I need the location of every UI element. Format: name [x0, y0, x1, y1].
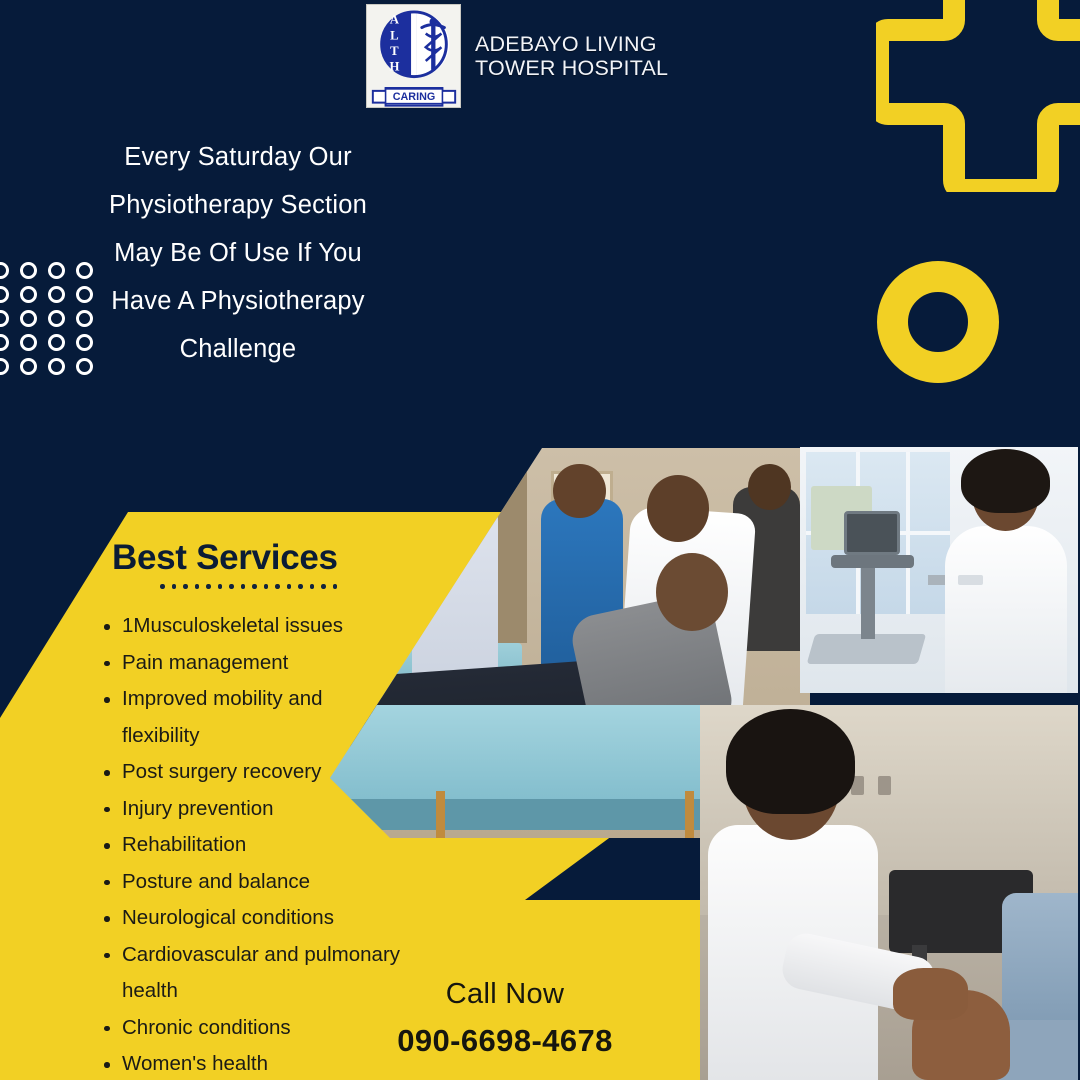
headline-line: Every Saturday Our	[60, 133, 416, 181]
service-item: Improved mobility and flexibility	[104, 681, 404, 754]
header: A L T H CARING ADEBAYO LIVING TOWER HOSP…	[366, 4, 668, 108]
dotted-divider	[160, 584, 337, 589]
hospital-logo: A L T H CARING	[366, 4, 461, 108]
dot-ring	[20, 286, 37, 303]
phone-number[interactable]: 090-6698-4678	[360, 1023, 650, 1059]
svg-text:L: L	[390, 28, 398, 42]
dot-ring	[20, 262, 37, 279]
headline: Every Saturday Our Physiotherapy Section…	[60, 133, 416, 373]
service-item: Neurological conditions	[104, 900, 404, 937]
headline-line: Challenge	[60, 325, 416, 373]
svg-text:A: A	[389, 13, 399, 27]
caring-banner-icon: CARING	[369, 85, 459, 107]
dot-ring	[0, 262, 9, 279]
hospital-name: ADEBAYO LIVING TOWER HOSPITAL	[475, 32, 668, 81]
service-item: Injury prevention	[104, 791, 404, 828]
flyer-canvas: A L T H CARING ADEBAYO LIVING TOWER HOSP…	[0, 0, 1080, 1080]
headline-line: Have A Physiotherapy	[60, 277, 416, 325]
dot-ring	[20, 358, 37, 375]
services-title: Best Services	[112, 538, 338, 578]
service-item: Pain management	[104, 645, 404, 682]
service-item: Cardiovascular and pulmonary health	[104, 937, 404, 1010]
service-item: 1Musculoskeletal issues	[104, 608, 404, 645]
dot-ring	[0, 310, 9, 327]
services-list: 1Musculoskeletal issues Pain management …	[104, 608, 404, 1080]
medical-cross-icon	[876, 0, 1080, 192]
knee-examination-photo	[700, 705, 1078, 1080]
service-item: Rehabilitation	[104, 827, 404, 864]
dot-ring	[20, 310, 37, 327]
service-item: Posture and balance	[104, 864, 404, 901]
service-item: Chronic conditions	[104, 1010, 404, 1047]
dot-ring	[20, 334, 37, 351]
headline-line: Physiotherapy Section	[60, 181, 416, 229]
therapist-gym-photo	[800, 447, 1078, 693]
svg-text:CARING: CARING	[392, 92, 434, 104]
svg-text:T: T	[390, 44, 399, 58]
call-to-action: Call Now 090-6698-4678	[360, 978, 650, 1059]
call-now-label: Call Now	[360, 978, 650, 1011]
headline-line: May Be Of Use If You	[60, 229, 416, 277]
dot-ring	[0, 286, 9, 303]
logo-emblem-icon: A L T H	[370, 8, 458, 84]
service-item: Women's health	[104, 1046, 404, 1080]
service-item: Post surgery recovery	[104, 754, 404, 791]
dot-ring	[0, 358, 9, 375]
dot-ring	[0, 334, 9, 351]
ring-decoration	[877, 261, 999, 383]
svg-text:H: H	[389, 60, 399, 74]
